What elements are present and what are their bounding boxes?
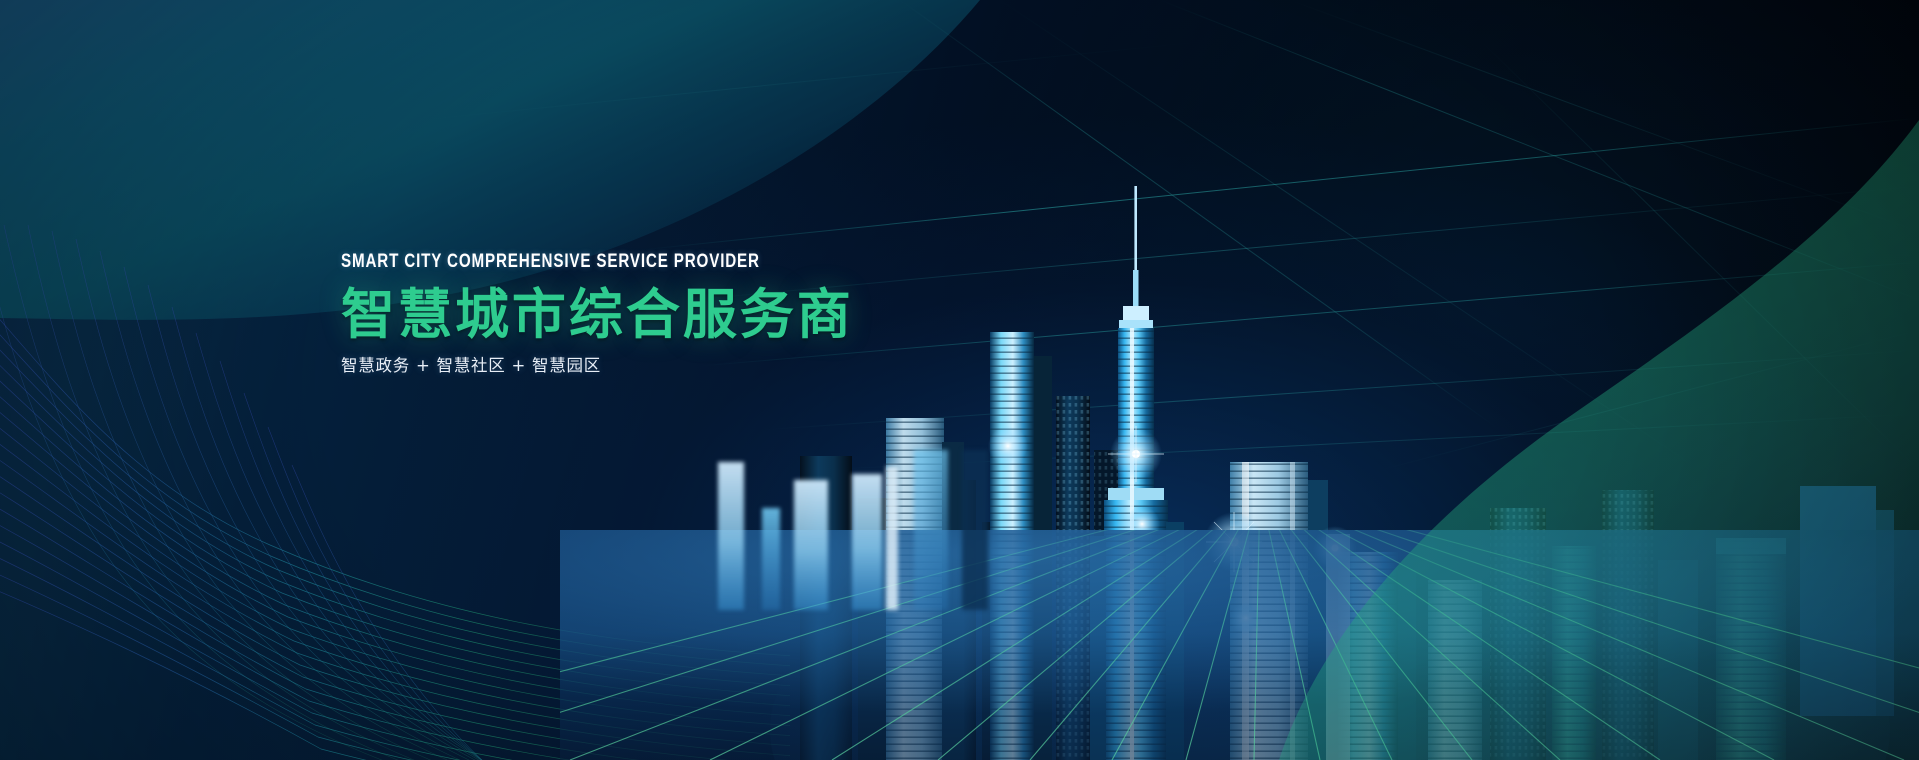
hero-subline: 智慧政务 + 智慧社区 + 智慧园区 [341,358,1041,375]
hero-headline: 智慧城市综合服务商 [341,288,1041,342]
hero-text-block: SMART CITY COMPREHENSIVE SERVICE PROVIDE… [341,252,1041,375]
hero-eyebrow: SMART CITY COMPREHENSIVE SERVICE PROVIDE… [341,252,901,271]
vignette-overlay [0,0,1919,760]
hero-banner: SMART CITY COMPREHENSIVE SERVICE PROVIDE… [0,0,1919,760]
